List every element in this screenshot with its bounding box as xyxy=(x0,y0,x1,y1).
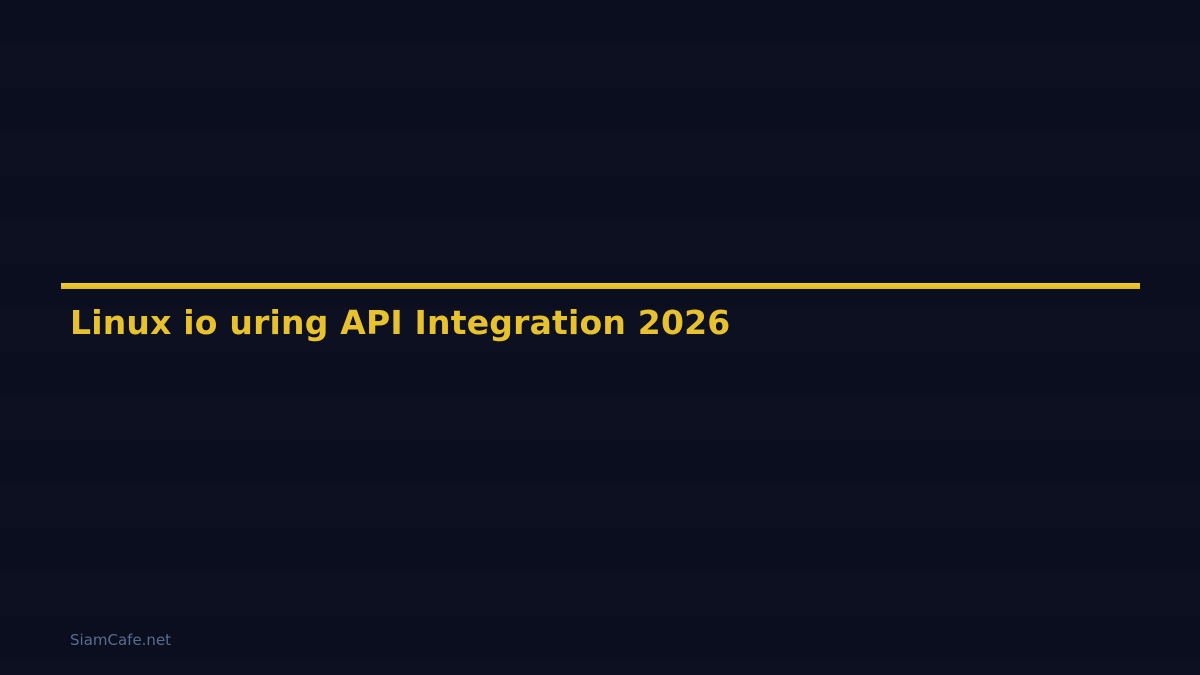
slide-content: Linux io uring API Integration 2026 Siam… xyxy=(0,0,1200,675)
page-title: Linux io uring API Integration 2026 xyxy=(70,303,730,343)
footer-brand-label: SiamCafe.net xyxy=(70,630,171,650)
title-accent-rule xyxy=(61,283,1140,289)
title-slide: Linux io uring API Integration 2026 Siam… xyxy=(0,0,1200,675)
